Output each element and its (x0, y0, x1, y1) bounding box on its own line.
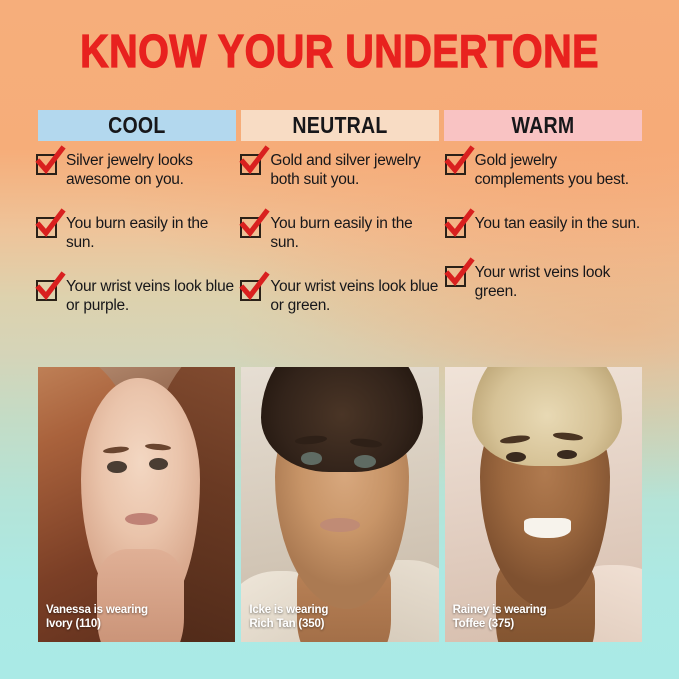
checklist-item: Gold jewelry complements you best. (445, 152, 644, 189)
photo-caption-warm: Rainey is wearing Toffee (375) (453, 604, 547, 631)
header-band-cool: COOL (38, 110, 236, 141)
photo-caption-line2: Toffee (375) (453, 618, 547, 632)
checkbox-checked-icon (36, 154, 57, 175)
model-photo-neutral: Icke is wearing Rich Tan (350) (241, 367, 438, 642)
checkbox-checked-icon (445, 217, 466, 238)
model-photo-warm: Rainey is wearing Toffee (375) (445, 367, 642, 642)
undertone-checklist-columns: Silver jewelry looks awesome on you. You… (36, 152, 644, 315)
checklist-item-label: You burn easily in the sun. (66, 215, 235, 252)
portrait-rainey (445, 367, 642, 642)
model-photo-cool: Vanessa is wearing Ivory (110) (38, 367, 235, 642)
checklist-item: Your wrist veins look green. (445, 264, 644, 301)
checklist-item-label: Gold jewelry complements you best. (475, 152, 644, 189)
checklist-item: Silver jewelry looks awesome on you. (36, 152, 235, 189)
photo-caption-line1: Vanessa is wearing (46, 604, 148, 616)
photo-caption-line1: Icke is wearing (249, 604, 328, 616)
checklist-item-label: Gold and silver jewelry both suit you. (270, 152, 439, 189)
checklist-column-neutral: Gold and silver jewelry both suit you. Y… (240, 152, 439, 315)
checkbox-checked-icon (240, 154, 261, 175)
checklist-item-label: Your wrist veins look blue or green. (270, 278, 439, 315)
portrait-vanessa (38, 367, 235, 642)
checklist-item: Your wrist veins look blue or green. (240, 278, 439, 315)
checklist-item-label: Silver jewelry looks awesome on you. (66, 152, 235, 189)
photo-caption-line1: Rainey is wearing (453, 604, 547, 616)
undertone-header-bands: COOL NEUTRAL WARM (38, 110, 642, 141)
checklist-item-label: You tan easily in the sun. (475, 215, 640, 234)
page-title: KNOW YOUR UNDERTONE (48, 28, 632, 74)
checklist-item-label: You burn easily in the sun. (270, 215, 439, 252)
checklist-item: Gold and silver jewelry both suit you. (240, 152, 439, 189)
header-band-warm: WARM (444, 110, 642, 141)
checklist-column-warm: Gold jewelry complements you best. You t… (445, 152, 644, 315)
photo-caption-neutral: Icke is wearing Rich Tan (350) (249, 604, 328, 631)
checklist-item: Your wrist veins look blue or purple. (36, 278, 235, 315)
checklist-item-label: Your wrist veins look blue or purple. (66, 278, 235, 315)
portrait-icke (241, 367, 438, 642)
model-photo-row: Vanessa is wearing Ivory (110) Icke is w… (38, 367, 642, 642)
checkbox-checked-icon (240, 217, 261, 238)
checkbox-checked-icon (36, 217, 57, 238)
header-band-neutral: NEUTRAL (241, 110, 439, 141)
checkbox-checked-icon (445, 266, 466, 287)
checklist-item: You burn easily in the sun. (36, 215, 235, 252)
checklist-item: You burn easily in the sun. (240, 215, 439, 252)
checkbox-checked-icon (445, 154, 466, 175)
photo-caption-line2: Rich Tan (350) (249, 618, 328, 632)
header-label-neutral: NEUTRAL (292, 112, 387, 139)
photo-caption-line2: Ivory (110) (46, 618, 148, 632)
checklist-column-cool: Silver jewelry looks awesome on you. You… (36, 152, 235, 315)
checklist-item: You tan easily in the sun. (445, 215, 644, 238)
header-label-cool: COOL (108, 112, 165, 139)
header-label-warm: WARM (512, 112, 575, 139)
photo-caption-cool: Vanessa is wearing Ivory (110) (46, 604, 148, 631)
checklist-item-label: Your wrist veins look green. (475, 264, 644, 301)
checkbox-checked-icon (240, 280, 261, 301)
checkbox-checked-icon (36, 280, 57, 301)
undertone-infographic: KNOW YOUR UNDERTONE COOL NEUTRAL WARM Si… (0, 0, 679, 679)
